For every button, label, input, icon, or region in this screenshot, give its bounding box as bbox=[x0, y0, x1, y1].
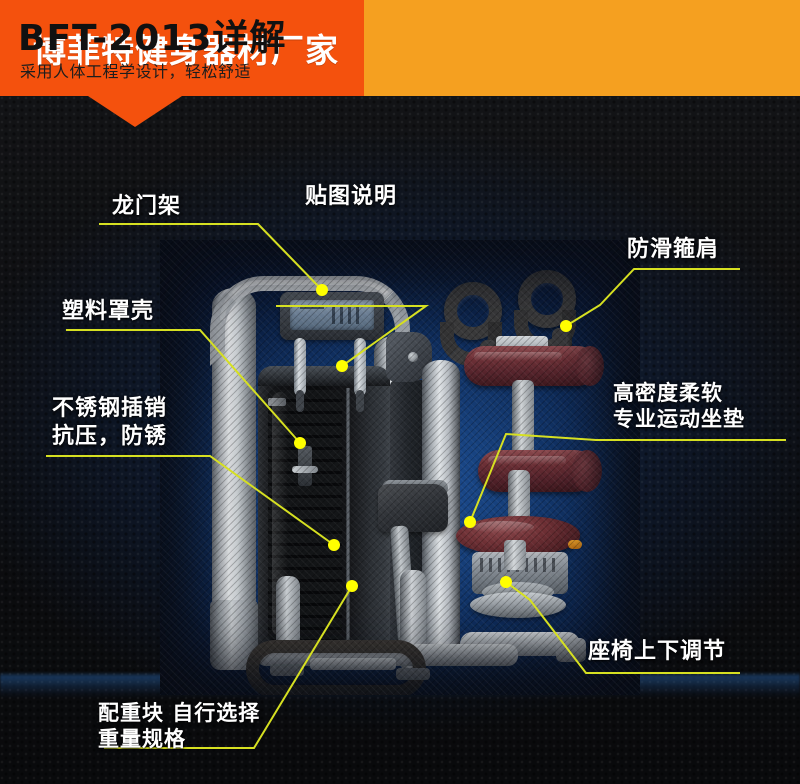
model-title: BFT-2013详解 bbox=[18, 9, 286, 61]
page-header: 博菲特健身器材厂家 BFT-2013详解 采用人体工程学设计，轻松舒适 bbox=[0, 0, 800, 96]
base-plate bbox=[310, 658, 396, 670]
pivot-bolt bbox=[408, 352, 418, 362]
console-placard bbox=[290, 300, 374, 330]
armrest-post bbox=[390, 525, 416, 646]
callout-label-decal: 贴图说明 bbox=[305, 183, 397, 211]
shoulder-pad-left-stem bbox=[482, 340, 498, 374]
armrest-pad bbox=[378, 484, 448, 532]
frame-right-column bbox=[374, 336, 416, 636]
rotation-disc bbox=[470, 592, 566, 618]
shoulder-pad-right bbox=[512, 270, 586, 356]
shoulder-pad-left bbox=[438, 282, 512, 368]
upper-pad-bracket bbox=[496, 336, 548, 356]
guide-rod-left bbox=[294, 338, 306, 396]
seat-highlight bbox=[472, 521, 534, 533]
seat-adjust-post bbox=[504, 540, 526, 570]
foot-platform-rail bbox=[246, 640, 426, 695]
base-outrigger-foot bbox=[556, 638, 586, 662]
shoulder-pad-right-hook bbox=[514, 310, 576, 354]
gantry-arch-highlight bbox=[220, 280, 400, 320]
weight-stack-shroud bbox=[258, 368, 390, 658]
shoulder-pad-right-stem bbox=[556, 328, 572, 362]
console-diagram bbox=[332, 306, 362, 324]
lower-chest-pad bbox=[478, 450, 596, 492]
grip-stem-left bbox=[480, 340, 494, 362]
seat-adjust-teeth bbox=[480, 558, 560, 572]
callout-label-shoulder-pad: 防滑箍肩 bbox=[627, 236, 719, 264]
callout-label-seat-cushion: 高密度柔软 专业运动坐垫 bbox=[613, 380, 745, 433]
shoulder-pad-left-ring bbox=[444, 282, 502, 340]
armrest-top bbox=[382, 480, 448, 496]
base-beam bbox=[256, 644, 518, 666]
shroud-top-cap bbox=[258, 366, 390, 386]
right-shroud-panel bbox=[390, 380, 434, 655]
callout-label-gantry: 龙门架 bbox=[112, 193, 181, 221]
adjust-knob bbox=[568, 540, 582, 549]
guide-rod-left-sleeve bbox=[296, 390, 304, 412]
grip-clamp bbox=[506, 352, 540, 378]
console-logo-mark bbox=[300, 306, 324, 309]
grip-clamp-teeth bbox=[512, 358, 534, 372]
rotation-disc-upper bbox=[482, 582, 554, 602]
upper-chest-pad-cap bbox=[576, 346, 604, 386]
photo-vignette bbox=[160, 240, 640, 695]
shoulder-pad-left-hook bbox=[440, 322, 502, 366]
seat-cushion bbox=[456, 516, 580, 556]
callout-label-steel-pin: 不锈钢插销 抗压，防锈 bbox=[52, 395, 167, 450]
guide-rod-right bbox=[354, 338, 366, 396]
weight-plate-gloss bbox=[272, 392, 288, 636]
guide-rod-right-sleeve bbox=[356, 390, 364, 412]
shoulder-pad-right-ring bbox=[518, 270, 576, 328]
base-foot-left bbox=[270, 664, 304, 676]
model-band bbox=[364, 0, 800, 96]
base-leg-right bbox=[400, 570, 426, 672]
seat-support-column bbox=[422, 360, 460, 660]
base-outrigger bbox=[460, 632, 580, 656]
seat-riser bbox=[508, 470, 530, 538]
console-housing bbox=[280, 292, 384, 340]
upper-chest-pad-highlight bbox=[474, 352, 562, 361]
seat-adjust-mechanism bbox=[472, 552, 568, 594]
frame-left-column bbox=[212, 288, 256, 618]
weight-plates bbox=[268, 390, 342, 640]
instruction-decal bbox=[268, 398, 286, 406]
frame-left-base bbox=[210, 600, 258, 670]
base-foot-right bbox=[396, 668, 430, 680]
stainless-selector-pin bbox=[292, 466, 318, 473]
gym-machine-illustration bbox=[160, 240, 640, 695]
model-subtitle: 采用人体工程学设计，轻松舒适 bbox=[20, 58, 251, 82]
upper-chest-pad bbox=[464, 346, 598, 386]
gantry-arch bbox=[210, 276, 410, 366]
callout-label-weight-stack: 配重块 自行选择 重量规格 bbox=[98, 700, 260, 753]
lower-chest-pad-highlight bbox=[488, 456, 566, 465]
product-photo bbox=[160, 240, 640, 695]
callout-label-seat-adjust: 座椅上下调节 bbox=[588, 638, 726, 666]
product-detail-page: 博菲特健身器材厂家 BFT-2013详解 采用人体工程学设计，轻松舒适 bbox=[0, 0, 800, 784]
console-pivot-hub bbox=[386, 332, 432, 382]
weight-selector-rail bbox=[298, 446, 312, 486]
grip-stem-right bbox=[552, 328, 566, 360]
lower-chest-pad-cap bbox=[572, 450, 602, 492]
brand-band-notch bbox=[88, 96, 182, 127]
grip-crossbar bbox=[480, 352, 564, 366]
pad-support-post bbox=[512, 380, 534, 460]
callout-label-plastic-cover: 塑料罩壳 bbox=[62, 298, 154, 326]
base-leg-left bbox=[276, 576, 300, 668]
cable bbox=[346, 388, 350, 640]
